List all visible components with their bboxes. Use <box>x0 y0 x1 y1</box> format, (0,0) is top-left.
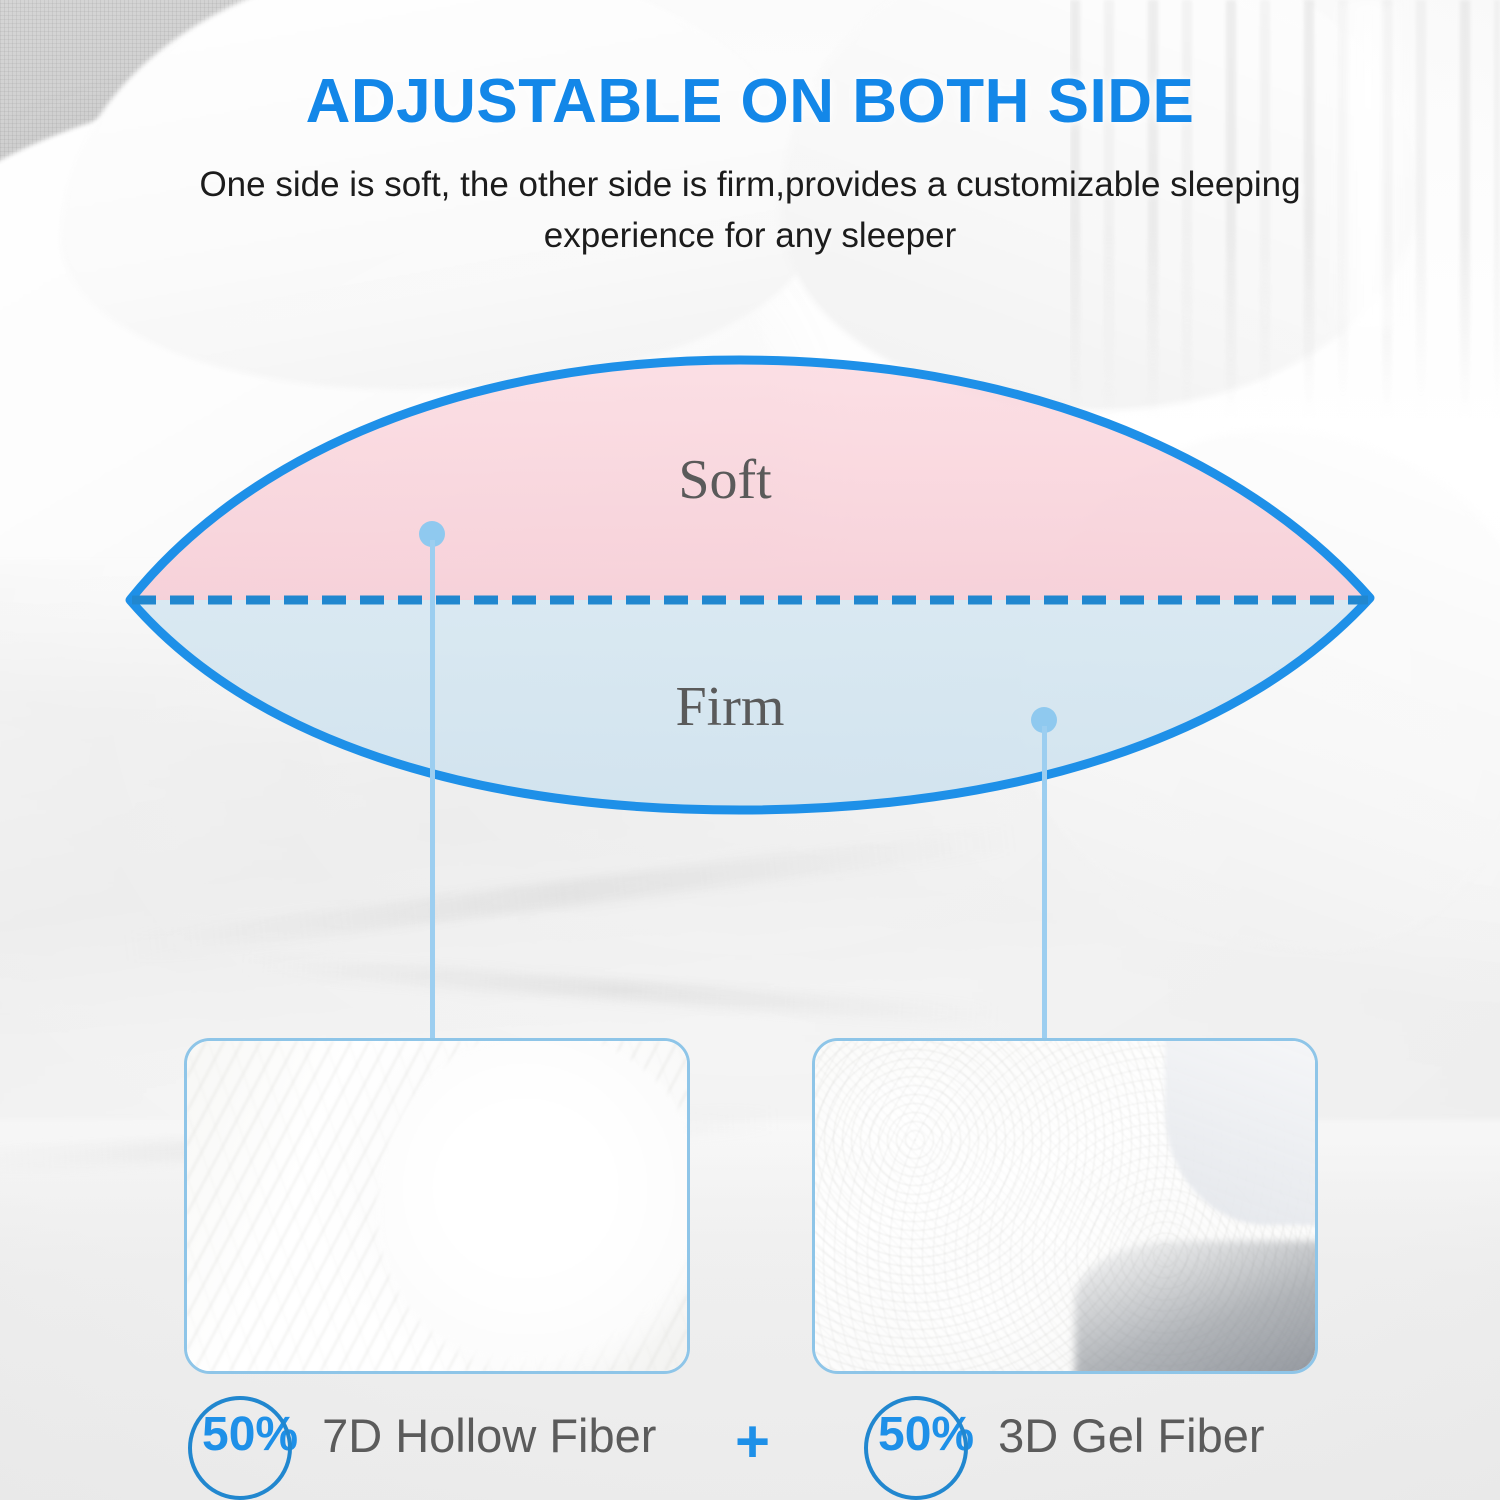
subtitle-line-1: One side is soft, the other side is firm… <box>0 160 1500 211</box>
percent-badge-left: 50% <box>196 1411 304 1459</box>
pillow-diagram: Soft Firm <box>0 330 1500 850</box>
pillow-svg <box>0 330 1500 850</box>
gel-fiber-shadow <box>1075 1241 1318 1374</box>
page-subtitle: One side is soft, the other side is firm… <box>0 160 1500 262</box>
page-title: ADJUSTABLE ON BOTH SIDE <box>0 66 1500 137</box>
caption-gel-fiber: 50% 3D Gel Fiber <box>872 1400 1265 1470</box>
firm-label: Firm <box>580 675 880 739</box>
material-label-left: 7D Hollow Fiber <box>322 1408 656 1463</box>
gel-fiber-photo <box>812 1038 1318 1374</box>
percent-ring-icon <box>188 1396 292 1500</box>
percent-ring-icon <box>864 1396 968 1500</box>
infographic-stage: ADJUSTABLE ON BOTH SIDE One side is soft… <box>0 0 1500 1500</box>
subtitle-line-2: experience for any sleeper <box>0 211 1500 262</box>
connector-line-right <box>1042 726 1047 1040</box>
hollow-fiber-puff <box>377 1038 690 1374</box>
caption-hollow-fiber: 50% 7D Hollow Fiber <box>196 1400 656 1470</box>
soft-label: Soft <box>575 448 875 512</box>
percent-badge-right: 50% <box>872 1411 980 1459</box>
hollow-fiber-photo <box>184 1038 690 1374</box>
plus-icon: + <box>735 1412 770 1472</box>
connector-line-left <box>430 540 435 1040</box>
material-label-right: 3D Gel Fiber <box>998 1408 1264 1463</box>
